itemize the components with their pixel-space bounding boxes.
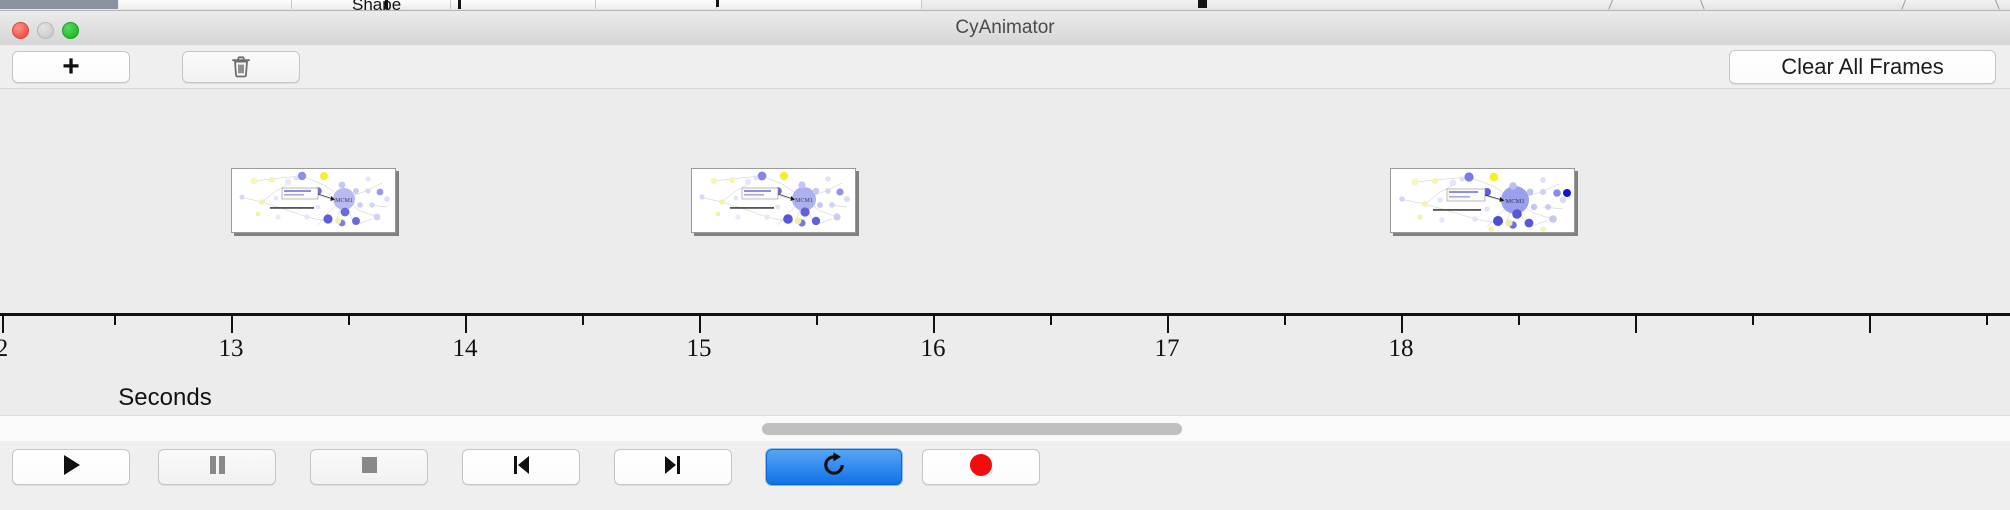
- ruler-tick-major: [1167, 316, 1169, 333]
- pause-icon: [206, 453, 228, 482]
- playback-control-bar: Animation Speed:: [0, 441, 2010, 510]
- background-cell: [596, 0, 717, 9]
- trash-icon: [230, 55, 252, 79]
- skip-to-end-button[interactable]: [614, 449, 732, 485]
- timeline-panel[interactable]: MCM1: [0, 88, 2010, 314]
- background-tick: [1198, 0, 1207, 8]
- background-mark: [1608, 0, 1613, 9]
- background-cell: [451, 0, 596, 9]
- frame-thumbnail[interactable]: MCM1: [691, 168, 856, 233]
- svg-text:MCM1: MCM1: [335, 198, 353, 204]
- svg-text:MCM1: MCM1: [1505, 198, 1524, 205]
- play-button[interactable]: [12, 449, 130, 485]
- frame-thumbnail[interactable]: MCM1: [1390, 168, 1575, 233]
- ruler-label: 15: [687, 335, 712, 363]
- skip-forward-icon: [661, 453, 685, 482]
- title-bar[interactable]: CyAnimator: [0, 11, 2010, 46]
- record-button[interactable]: [922, 449, 1040, 485]
- ruler-tick-minor: [1284, 316, 1286, 325]
- horizontal-scrollbar[interactable]: [0, 415, 2010, 442]
- window-title: CyAnimator: [0, 11, 2010, 45]
- ruler-label: 2: [0, 335, 8, 363]
- ruler-tick-minor: [582, 316, 584, 325]
- ruler-tick-major: [465, 316, 467, 333]
- scrollbar-thumb[interactable]: [762, 423, 1182, 435]
- axis-caption: Seconds: [0, 384, 2010, 412]
- background-tick: [716, 0, 719, 7]
- background-cell: [119, 0, 292, 9]
- ruler-tick-minor: [816, 316, 818, 325]
- timeline-top-border: [0, 88, 2010, 89]
- background-mark: [1901, 0, 1906, 9]
- ruler-label: 14: [453, 335, 478, 363]
- ruler-tick-major: [1635, 316, 1637, 333]
- clear-all-frames-button[interactable]: Clear All Frames: [1729, 50, 1996, 84]
- ruler-tick-major: [1869, 316, 1871, 333]
- ruler-tick-minor: [1050, 316, 1052, 325]
- ruler-tick-minor: [348, 316, 350, 325]
- ruler-tick-major: [1401, 316, 1403, 333]
- ruler-tick-minor: [114, 316, 116, 325]
- background-selected-cell: [0, 0, 118, 9]
- ruler-axis-line: [0, 313, 2010, 316]
- ruler-tick-major: [2, 316, 4, 333]
- ruler-label: 16: [921, 335, 946, 363]
- ruler-label: 13: [219, 335, 244, 363]
- background-mark: [1995, 0, 2000, 9]
- skip-to-start-button[interactable]: [462, 449, 580, 485]
- ruler-label: 17: [1155, 335, 1180, 363]
- stop-icon: [358, 453, 380, 482]
- skip-back-icon: [509, 453, 533, 482]
- plus-icon: +: [62, 52, 80, 82]
- background-mark: [1700, 0, 1705, 9]
- axis-caption-text: Seconds: [118, 384, 211, 411]
- pause-button[interactable]: [158, 449, 276, 485]
- ruler-tick-major: [933, 316, 935, 333]
- ruler-label: 18: [1389, 335, 1414, 363]
- toolbar: + Clear All Frames: [0, 45, 2010, 89]
- ruler-tick-minor: [1752, 316, 1754, 325]
- svg-text:MCM1: MCM1: [795, 198, 813, 204]
- play-icon: [60, 453, 82, 482]
- loop-icon: [820, 451, 848, 484]
- frame-thumbnail[interactable]: MCM1: [231, 168, 396, 233]
- add-frame-button[interactable]: +: [12, 51, 130, 83]
- background-cell: [292, 0, 355, 9]
- stop-button[interactable]: [310, 449, 428, 485]
- ruler-tick-minor: [1518, 316, 1520, 325]
- record-icon: [969, 453, 993, 482]
- cyanimator-window: Shape CyAnimator +: [0, 0, 2010, 510]
- timeline-ruler[interactable]: 2 13 14 15 16 17 18: [0, 313, 2010, 321]
- ruler-tick-major: [699, 316, 701, 333]
- background-tick: [458, 0, 461, 9]
- background-window-strip: Shape: [0, 0, 2010, 11]
- background-cell: [717, 0, 922, 9]
- ruler-tick-minor: [1986, 316, 1988, 325]
- loop-button[interactable]: [766, 449, 902, 485]
- delete-frame-button[interactable]: [182, 51, 300, 83]
- ruler-tick-major: [231, 316, 233, 333]
